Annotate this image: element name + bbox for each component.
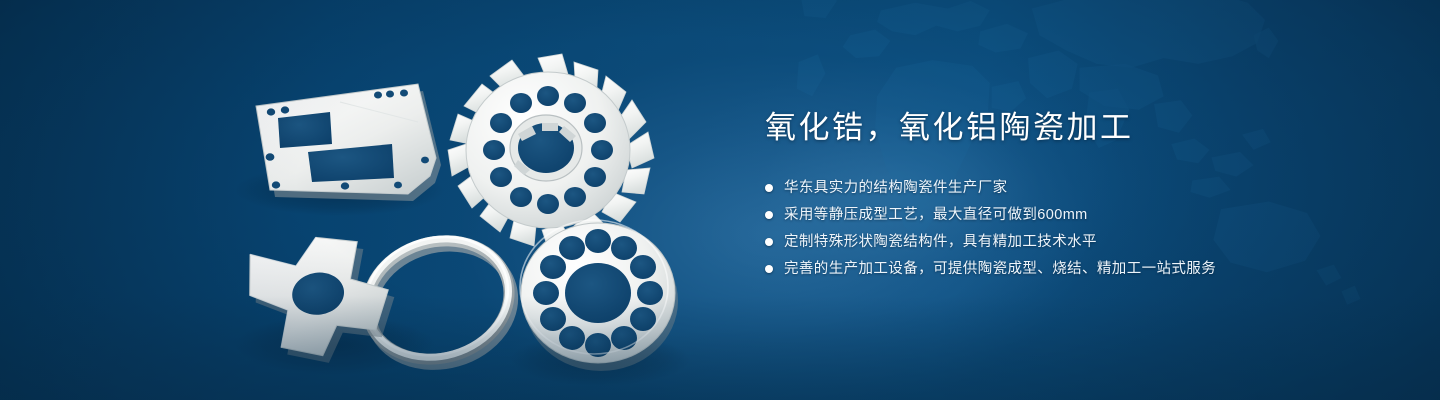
ceramic-products-photo [0,0,760,400]
ceramic-impeller-part [448,54,654,248]
bullet-dot-icon [765,211,773,219]
list-item: 定制特殊形状陶瓷结构件，具有精加工技术水平 [765,230,1385,254]
ceramic-plate-part [256,84,441,201]
hero-banner: 氧化锆，氧化铝陶瓷加工 华东具实力的结构陶瓷件生产厂家 采用等静压成型工艺，最大… [0,0,1440,400]
feature-list: 华东具实力的结构陶瓷件生产厂家 采用等静压成型工艺，最大直径可做到600mm 定… [765,176,1385,281]
feature-text: 采用等静压成型工艺，最大直径可做到600mm [784,203,1088,227]
list-item: 华东具实力的结构陶瓷件生产厂家 [765,176,1385,200]
banner-headline: 氧化锆，氧化铝陶瓷加工 [765,108,1385,148]
feature-text: 完善的生产加工设备，可提供陶瓷成型、烧结、精加工一站式服务 [784,257,1216,281]
feature-text: 定制特殊形状陶瓷结构件，具有精加工技术水平 [784,230,1097,254]
feature-text: 华东具实力的结构陶瓷件生产厂家 [784,176,1008,200]
bullet-dot-icon [765,184,773,192]
list-item: 完善的生产加工设备，可提供陶瓷成型、烧结、精加工一站式服务 [765,257,1385,281]
bullet-dot-icon [765,265,773,273]
banner-copy: 氧化锆，氧化铝陶瓷加工 华东具实力的结构陶瓷件生产厂家 采用等静压成型工艺，最大… [765,108,1385,284]
list-item: 采用等静压成型工艺，最大直径可做到600mm [765,203,1385,227]
bullet-dot-icon [765,238,773,246]
